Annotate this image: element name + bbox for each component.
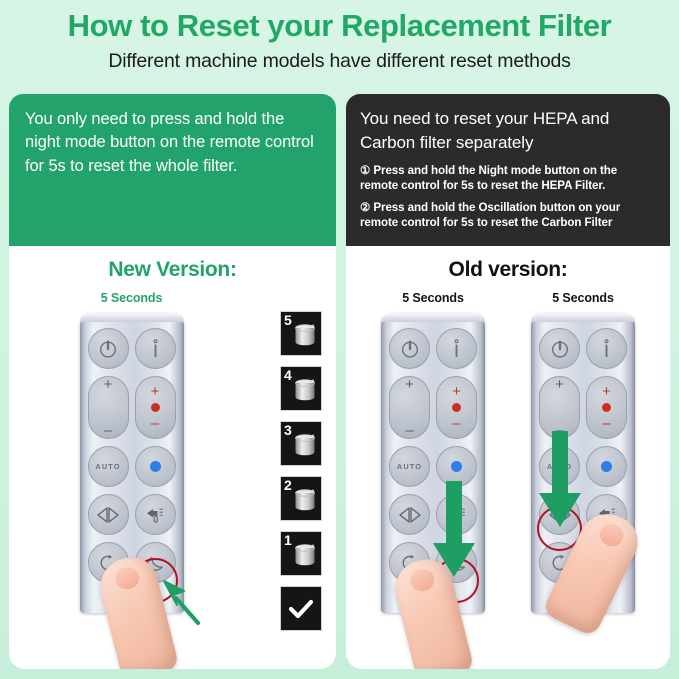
panels-container: You only need to press and hold the nigh… <box>0 94 679 669</box>
remote-button-grid: + – + – AUTO <box>389 325 477 583</box>
filter-cylinder-icon <box>292 487 318 514</box>
info-icon <box>452 338 461 360</box>
airflow-direction-button[interactable] <box>436 494 477 535</box>
right-panel: You need to reset your HEPA and Carbon f… <box>346 94 670 669</box>
cool-button[interactable] <box>135 446 176 487</box>
countdown-number: 4 <box>284 368 292 382</box>
fan-speed-button[interactable]: + – <box>389 376 430 439</box>
old-seconds-label-1: 5 Seconds <box>402 291 464 305</box>
power-icon <box>399 338 421 360</box>
heat-dot-icon <box>452 403 461 412</box>
auto-button[interactable]: AUTO <box>389 446 430 487</box>
cool-button[interactable] <box>586 446 627 487</box>
heat-button[interactable]: + – <box>135 376 176 439</box>
page-subtitle: Different machine models have different … <box>10 50 669 73</box>
moon-icon <box>446 553 468 573</box>
page-title: How to Reset your Replacement Filter <box>10 8 669 45</box>
auto-label: AUTO <box>397 462 422 471</box>
old-version-remote-hepa-group: + – + – AUTO <box>381 313 485 613</box>
left-seconds-label: 5 Seconds <box>9 291 336 305</box>
countdown-number: 5 <box>284 313 292 327</box>
countdown-step: 3 <box>280 421 322 466</box>
countdown-step: 4 <box>280 366 322 411</box>
oscillation-button[interactable] <box>389 494 430 535</box>
auto-label: AUTO <box>95 462 120 471</box>
fan-speed-button[interactable]: + – <box>88 376 129 439</box>
right-banner: You need to reset your HEPA and Carbon f… <box>346 94 670 246</box>
power-button[interactable] <box>88 328 129 369</box>
heat-plus-icon: + <box>602 384 611 399</box>
infographic-page: How to Reset your Replacement Filter Dif… <box>0 0 679 679</box>
old-version-remote-carbon-group: + – + – AUTO <box>531 313 635 613</box>
fan-minus-icon: – <box>104 423 112 438</box>
power-button[interactable] <box>389 328 430 369</box>
countdown-step: 2 <box>280 476 322 521</box>
fan-plus-icon: + <box>104 377 113 392</box>
info-icon <box>151 338 160 360</box>
new-version-remote-group: + – + – AUTO <box>80 313 184 613</box>
fan-plus-icon: + <box>555 377 564 392</box>
heat-dot-icon <box>602 403 611 412</box>
heat-plus-icon: + <box>151 384 160 399</box>
countdown-step: 1 <box>280 531 322 576</box>
countdown-number: 2 <box>284 478 292 492</box>
filter-cylinder-icon <box>292 322 318 349</box>
old-seconds-label-2: 5 Seconds <box>552 291 614 305</box>
left-banner-text: You only need to press and hold the nigh… <box>25 108 320 178</box>
power-icon <box>97 338 119 360</box>
blue-dot-icon <box>150 461 161 472</box>
old-version-card: Old version: 5 Seconds 5 Seconds <box>346 246 670 669</box>
fan-minus-icon: – <box>405 423 413 438</box>
checkmark-icon <box>288 598 314 620</box>
oscillation-button[interactable] <box>88 494 129 535</box>
remote-button-grid: + – + – AUTO <box>88 325 176 583</box>
heat-minus-icon: – <box>151 416 159 431</box>
filter-cylinder-icon <box>292 432 318 459</box>
oscillation-button[interactable] <box>539 494 580 535</box>
countdown-number: 3 <box>284 423 292 437</box>
info-button[interactable] <box>586 328 627 369</box>
page-header: How to Reset your Replacement Filter Dif… <box>0 0 679 73</box>
right-banner-item: ② Press and hold the Oscillation button … <box>360 201 656 231</box>
heat-minus-icon: – <box>452 416 460 431</box>
auto-button[interactable]: AUTO <box>539 446 580 487</box>
info-button[interactable] <box>436 328 477 369</box>
blue-dot-icon <box>601 461 612 472</box>
new-version-card: New Version: 5 Seconds <box>9 246 336 669</box>
left-panel: You only need to press and hold the nigh… <box>9 94 336 669</box>
auto-button[interactable]: AUTO <box>88 446 129 487</box>
fan-minus-icon: – <box>555 423 563 438</box>
fan-plus-icon: + <box>405 377 414 392</box>
oscillation-icon <box>95 506 121 524</box>
airflow-icon <box>445 505 469 525</box>
right-stage: + – + – AUTO <box>346 305 670 613</box>
heat-minus-icon: – <box>602 416 610 431</box>
new-version-title: New Version: <box>9 246 336 282</box>
oscillation-icon <box>547 506 573 524</box>
auto-label: AUTO <box>547 462 572 471</box>
countdown-number: 1 <box>284 533 292 547</box>
right-banner-heading: You need to reset your HEPA and Carbon f… <box>360 107 656 155</box>
fan-speed-button[interactable]: + – <box>539 376 580 439</box>
left-banner: You only need to press and hold the nigh… <box>9 94 336 246</box>
power-icon <box>549 338 571 360</box>
left-stage: + – + – AUTO <box>9 305 336 613</box>
blue-dot-icon <box>451 461 462 472</box>
oscillation-icon <box>397 506 423 524</box>
old-version-title: Old version: <box>346 246 670 282</box>
filter-countdown-strip: 5 4 <box>280 311 322 631</box>
countdown-step: 5 <box>280 311 322 356</box>
cool-button[interactable] <box>436 446 477 487</box>
heat-button[interactable]: + – <box>436 376 477 439</box>
info-icon <box>602 338 611 360</box>
airflow-direction-button[interactable] <box>135 494 176 535</box>
airflow-icon <box>143 505 167 525</box>
heat-button[interactable]: + – <box>586 376 627 439</box>
right-banner-item: ① Press and hold the Night mode button o… <box>360 164 656 194</box>
power-button[interactable] <box>539 328 580 369</box>
info-button[interactable] <box>135 328 176 369</box>
filter-cylinder-icon <box>292 542 318 569</box>
heat-plus-icon: + <box>452 384 461 399</box>
countdown-complete <box>280 586 322 631</box>
filter-cylinder-icon <box>292 377 318 404</box>
heat-dot-icon <box>151 403 160 412</box>
right-banner-list: ① Press and hold the Night mode button o… <box>360 164 656 230</box>
